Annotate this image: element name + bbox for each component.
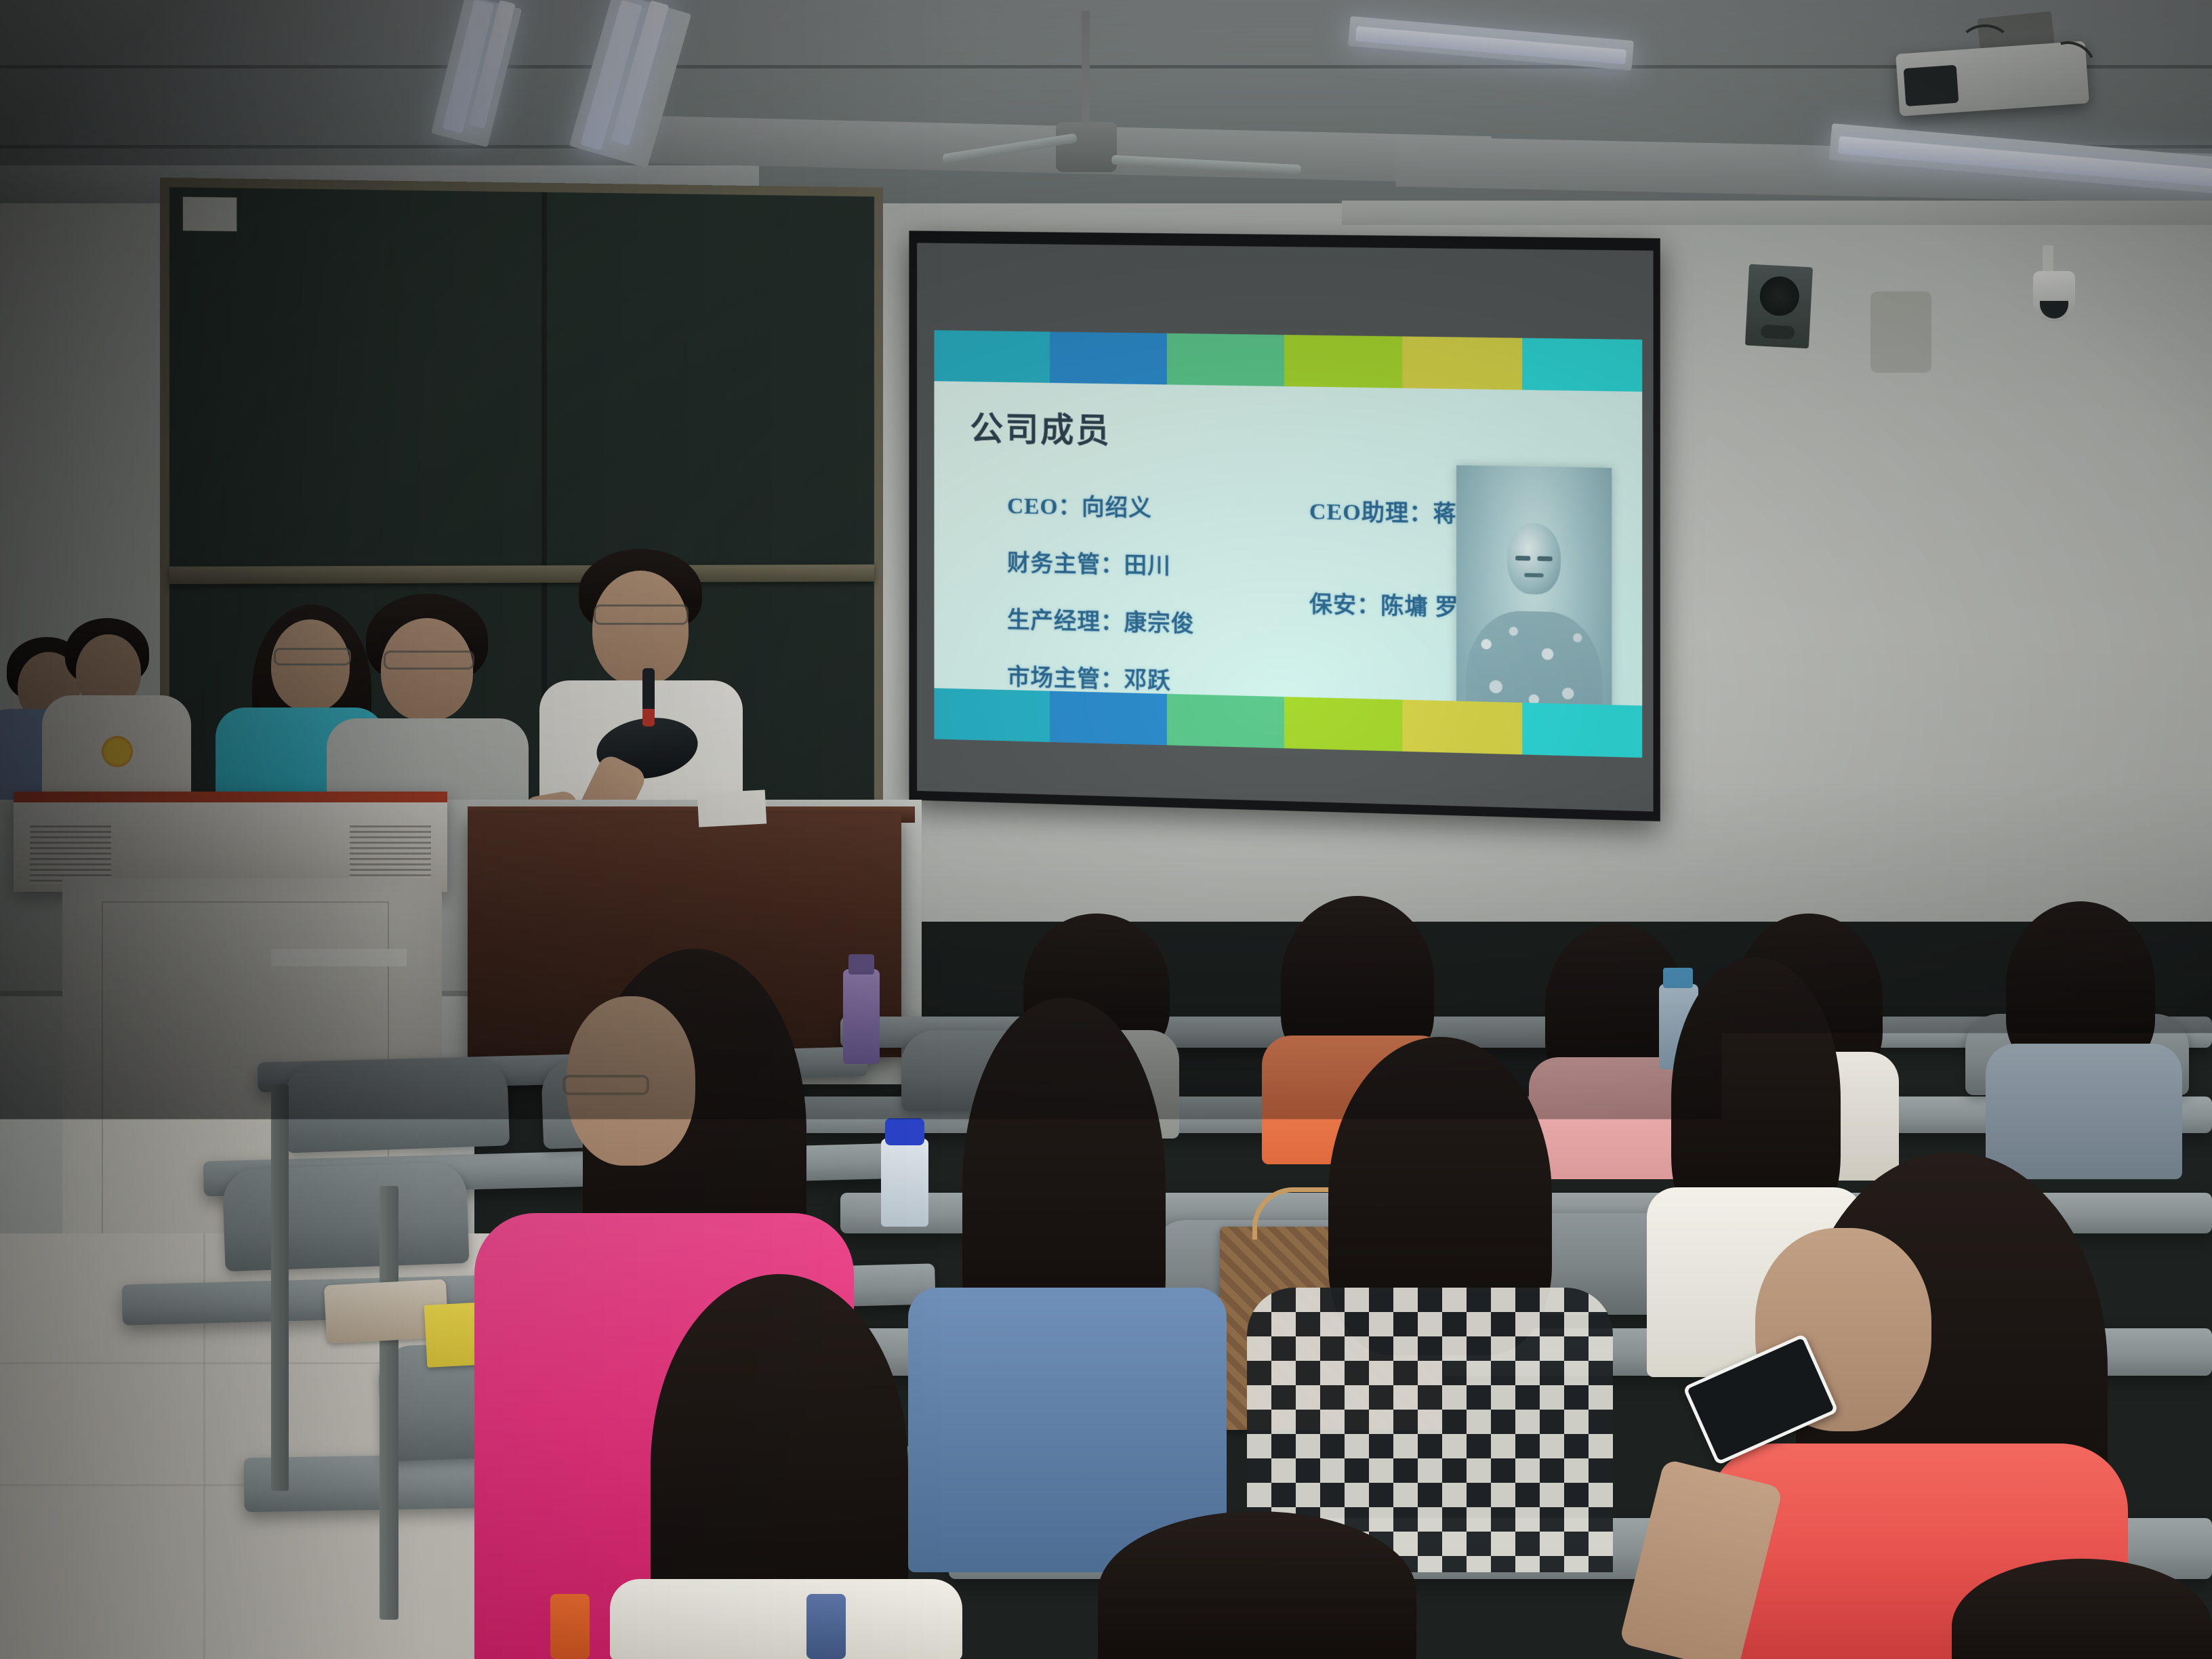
- podium-vent: [30, 825, 111, 884]
- band-swatch-6: [1522, 338, 1642, 392]
- water-bottle-purple[interactable]: [843, 969, 880, 1064]
- band-swatch-5: [1403, 699, 1522, 754]
- ceiling-fan-motor: [1056, 122, 1117, 172]
- band-swatch-3: [1167, 333, 1284, 386]
- classroom-presentation-photo: 公司成员 CEO：向绍义 财务主管：田川 生产经理：康宗俊 市场主管：邓跃 采购…: [0, 0, 2212, 1659]
- torso: [610, 1579, 962, 1659]
- backpack-strap: [806, 1594, 846, 1659]
- head: [592, 571, 689, 686]
- band-swatch-4: [1284, 335, 1403, 388]
- band-swatch-5: [1403, 336, 1522, 390]
- speaker-cone: [1759, 276, 1800, 317]
- desk-leg: [271, 1084, 289, 1491]
- camera-dome: [2040, 301, 2068, 319]
- slide-title: 公司成员: [970, 402, 1111, 453]
- bottle-cap-blue: [885, 1118, 924, 1145]
- band-swatch-4: [1284, 697, 1403, 752]
- photo-figure-eye: [1537, 556, 1552, 561]
- band-swatch-1: [934, 688, 1050, 742]
- wall-speaker: [1745, 264, 1813, 349]
- paper-sheet: [697, 790, 766, 827]
- backpack-strap: [550, 1594, 590, 1659]
- ceiling-seam: [0, 65, 2212, 68]
- shirt-logo: [102, 736, 133, 767]
- band-swatch-3: [1167, 694, 1284, 748]
- podium-sticker: [271, 949, 407, 966]
- marker-pen: [642, 668, 655, 726]
- projection-screen: 公司成员 CEO：向绍义 财务主管：田川 生产经理：康宗俊 市场主管：邓跃 采购…: [909, 230, 1660, 821]
- wall-plate: [1870, 291, 1931, 373]
- glasses: [594, 605, 689, 625]
- water-bottle-clear[interactable]: [881, 1139, 928, 1227]
- bottle-cap: [1663, 968, 1693, 988]
- photo-figure-eye: [1516, 556, 1531, 561]
- band-swatch-2: [1050, 331, 1166, 384]
- member-row: CEO：向绍义: [1007, 487, 1296, 526]
- ceiling-fan-rod: [1082, 11, 1090, 126]
- glasses: [274, 648, 351, 665]
- head: [271, 619, 350, 712]
- blackboard-rail: [169, 565, 874, 584]
- slide-top-color-band: [934, 330, 1642, 392]
- bottle-cap: [848, 954, 874, 975]
- seat-back: [283, 1057, 510, 1153]
- projector-cable: [1959, 24, 2011, 68]
- photo-figure-head: [1507, 523, 1561, 594]
- podium-vent: [350, 825, 431, 884]
- speaker-port: [1761, 325, 1795, 340]
- glasses: [562, 1075, 649, 1095]
- cctv-camera: [2033, 271, 2075, 321]
- wall-trim: [1342, 201, 2212, 225]
- seat-back: [222, 1162, 469, 1271]
- photo-figure-mouth: [1524, 573, 1544, 577]
- band-swatch-1: [934, 330, 1050, 383]
- screen-surface: 公司成员 CEO：向绍义 财务主管：田川 生产经理：康宗俊 市场主管：邓跃 采购…: [917, 243, 1653, 811]
- glasses: [384, 651, 474, 670]
- head: [381, 618, 473, 721]
- projector-lens: [1904, 65, 1959, 106]
- band-swatch-2: [1050, 691, 1166, 745]
- presentation-slide: 公司成员 CEO：向绍义 财务主管：田川 生产经理：康宗俊 市场主管：邓跃 采购…: [934, 330, 1642, 758]
- torso: [1986, 1044, 2182, 1179]
- member-row: 财务主管：田川: [1007, 544, 1296, 583]
- band-swatch-6: [1522, 703, 1642, 758]
- desk-leg: [380, 1186, 398, 1620]
- member-row: 生产经理：康宗俊: [1007, 601, 1296, 640]
- blackboard-label: [183, 197, 237, 231]
